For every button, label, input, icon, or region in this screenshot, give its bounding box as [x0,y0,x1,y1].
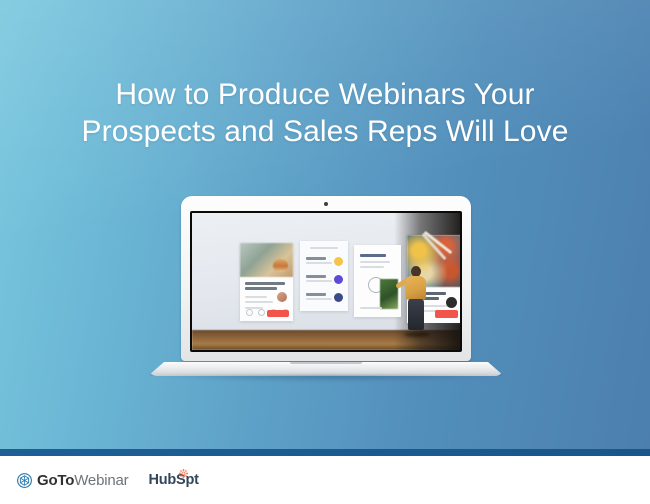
hero-background: How to Produce Webinars Your Prospects a… [0,0,650,449]
card-heading-line [245,282,285,285]
laptop-drop-shadow [154,375,498,382]
list-item [306,257,326,260]
gotowebinar-logo: GoToWebinar [17,473,128,488]
card-heading-line [360,254,386,257]
hubspot-wordmark: HubSpt [148,473,198,488]
presenter-body [406,276,426,300]
list-item [306,298,332,300]
hubspot-logo: HubSpt [148,473,198,488]
card-cta-button [435,310,458,318]
title-line-1: How to Produce Webinars Your [115,78,534,111]
list-avatar [334,293,343,302]
presenter-figure [402,266,432,334]
laptop-base-notch [290,362,361,364]
laptop-bezel [190,211,462,352]
card-text-line [360,307,382,309]
avatar [277,292,287,302]
card-text-line [245,301,273,303]
hubspot-word-tail: t [194,472,199,488]
card-text-line [360,266,384,268]
gotowebinar-word-webinar: Webinar [74,472,128,489]
footer-divider [0,449,650,456]
list-item [306,262,332,264]
title-line-2: Prospects and Sales Reps Will Love [0,113,650,150]
food-thumbnail [273,259,288,272]
gotowebinar-hex-icon [17,473,32,488]
laptop-base [148,362,504,376]
webcam-dot-icon [324,202,328,206]
slide-card-loft-listing [240,243,293,321]
card-text-line [245,296,267,298]
amenity-icon [246,309,253,316]
list-item [306,280,332,282]
gotowebinar-wordmark: GoToWebinar [37,473,128,488]
card-text-line [245,307,263,309]
gotowebinar-word-goto: GoTo [37,472,74,489]
footer-logo-bar: GoToWebinar HubSpt [0,456,650,504]
laptop-lid [181,196,471,361]
card-heading-line [245,287,277,290]
list-item [306,275,326,278]
laptop-screen [192,213,460,350]
amenity-icon [258,309,265,316]
presenter-legs [408,299,424,330]
list-item [306,293,326,296]
host-badge [446,297,457,308]
list-avatar [334,275,343,284]
page-title: How to Produce Webinars Your Prospects a… [0,76,650,150]
card-text-line [360,261,390,263]
card-heading-line [310,247,338,249]
list-avatar [334,257,343,266]
card-cta-button [267,310,289,317]
laptop-illustration [148,196,504,382]
hubspot-sprocket-icon [179,469,188,478]
slide-card-schedule-list [300,241,348,311]
presenter-shadow [404,332,430,337]
slide-card-los-angeles [354,245,401,317]
